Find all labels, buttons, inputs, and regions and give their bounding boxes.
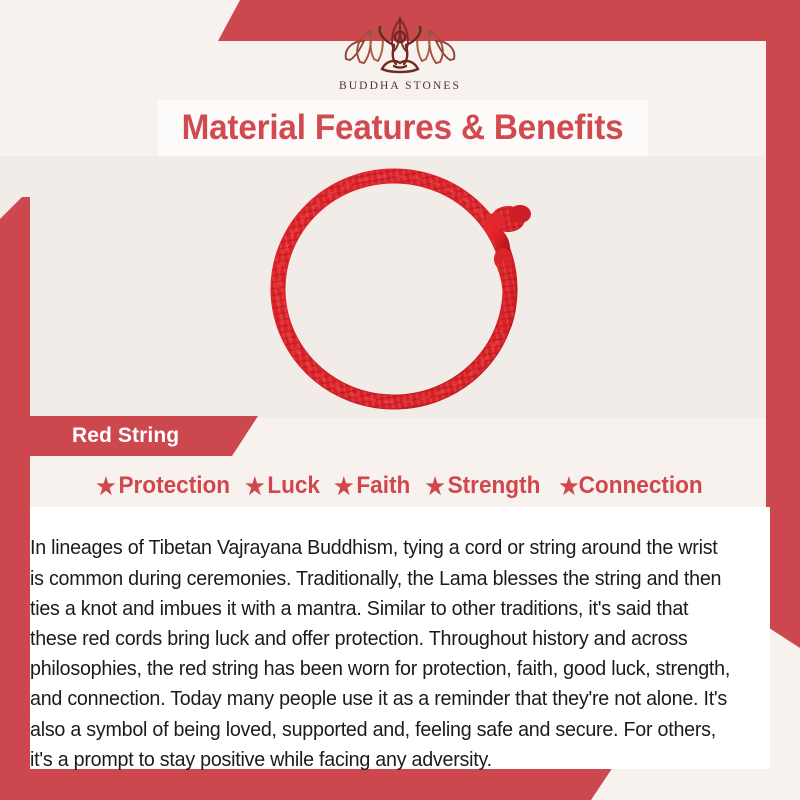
lotus-meditation-icon [334, 15, 466, 77]
benefit-item-luck: ★ Luck [237, 472, 320, 500]
brand-header: BUDDHA STONES [0, 0, 800, 100]
benefit-item-protection: ★ Protection [96, 472, 230, 500]
benefit-label: Protection [119, 472, 231, 500]
benefit-item-connection: ★ Connection [549, 472, 703, 500]
title-banner: Material Features & Benefits [158, 100, 648, 156]
brand-logo: BUDDHA STONES [334, 15, 466, 92]
star-icon: ★ [560, 475, 579, 498]
star-icon: ★ [246, 475, 265, 498]
benefit-item-strength: ★ Strength [417, 472, 540, 500]
benefit-label: Strength [448, 472, 541, 500]
infographic-page: BUDDHA STONES Material Features & Benefi… [0, 0, 800, 800]
description-text: In lineages of Tibetan Vajrayana Buddhis… [30, 527, 744, 775]
star-icon: ★ [334, 475, 353, 498]
brand-name: BUDDHA STONES [339, 80, 461, 92]
benefits-row: ★ Protection ★ Luck ★ Faith ★ Strength ★… [0, 466, 800, 506]
description-card: In lineages of Tibetan Vajrayana Buddhis… [30, 507, 770, 769]
benefit-label: Connection [579, 472, 703, 500]
star-icon: ★ [425, 475, 444, 498]
benefit-label: Faith [356, 472, 410, 500]
benefit-item-faith: ★ Faith [326, 472, 411, 500]
material-label-badge: Red String [0, 416, 258, 456]
material-label-text: Red String [72, 424, 179, 448]
star-icon: ★ [96, 475, 115, 498]
page-title: Material Features & Benefits [182, 108, 624, 148]
benefit-label: Luck [268, 472, 321, 500]
product-image-area [0, 156, 800, 418]
